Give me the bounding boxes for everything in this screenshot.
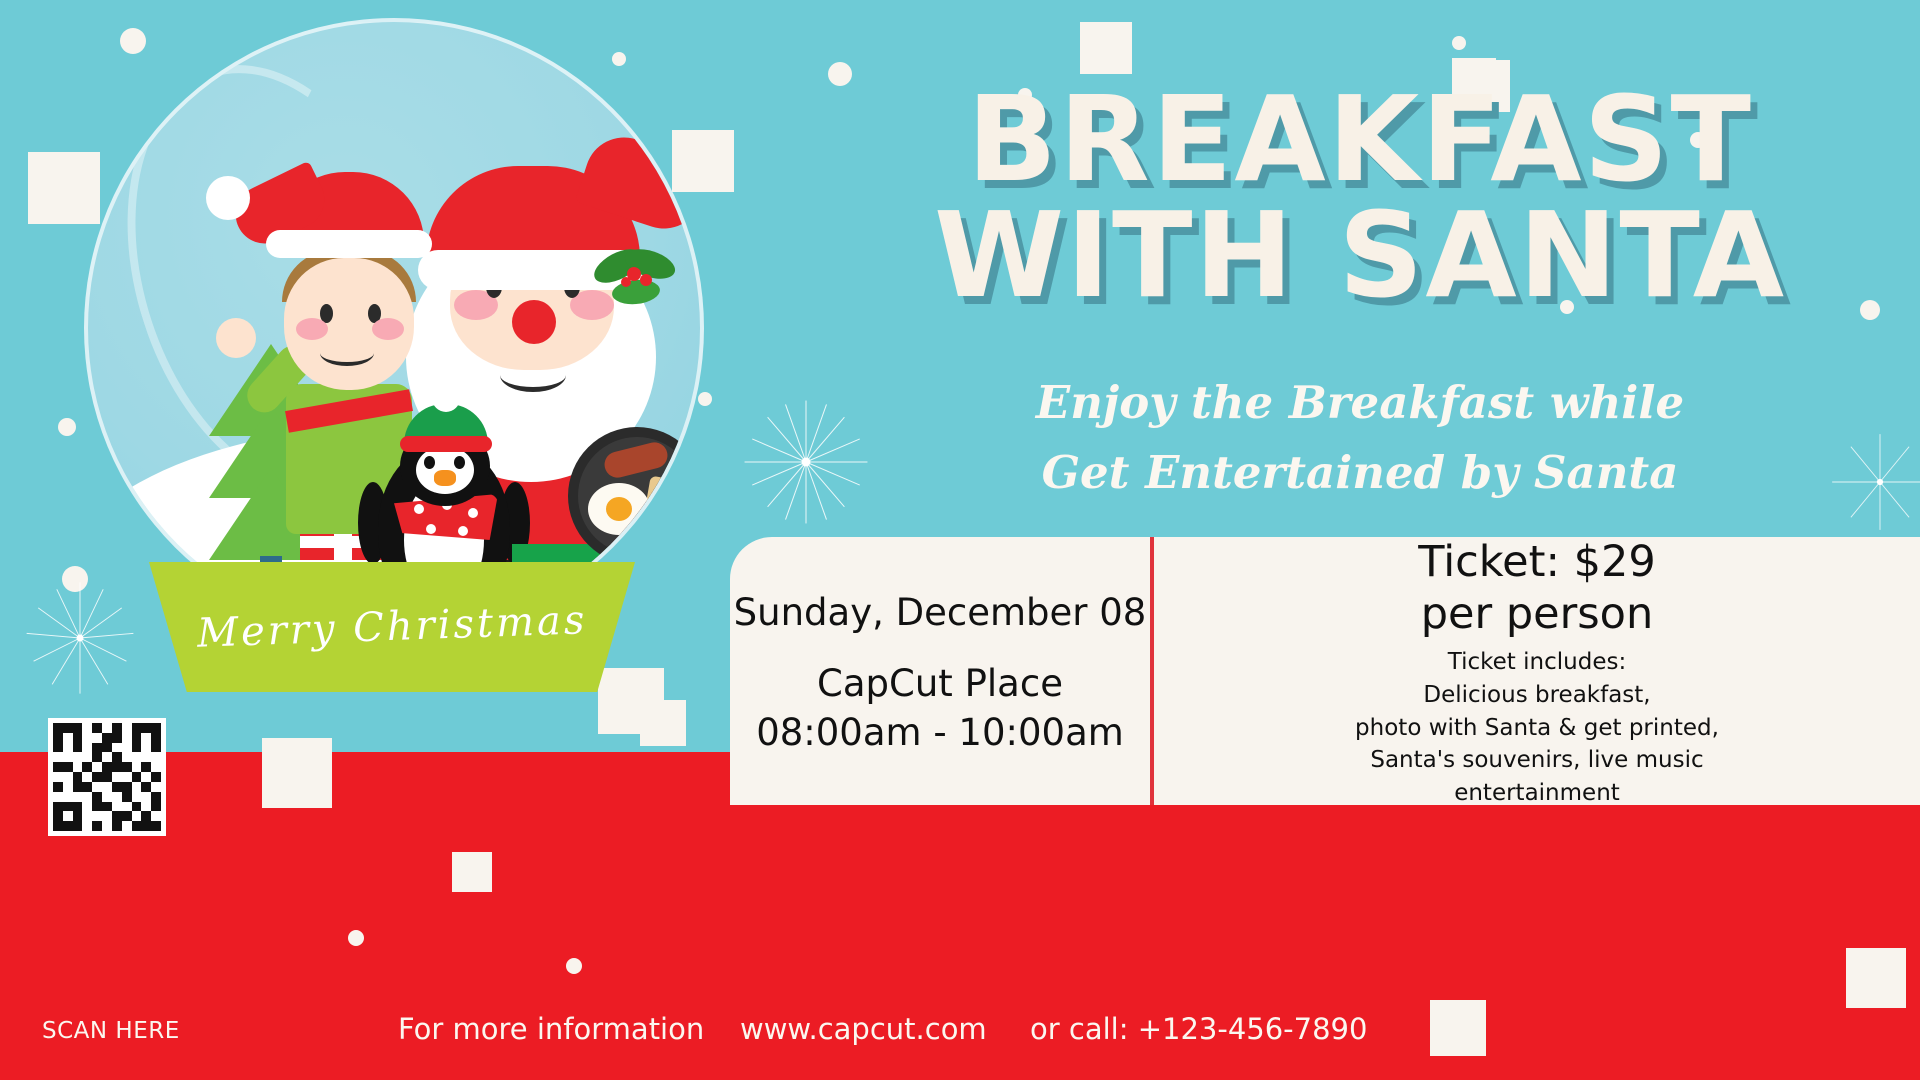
headline-line-2: WITH SANTA — [840, 198, 1880, 314]
ticket-includes-line: photo with Santa & get printed, — [1355, 712, 1719, 745]
qr-code-grid — [53, 723, 161, 831]
decor-dot — [1452, 36, 1466, 50]
globe-sphere — [84, 18, 704, 638]
event-date: Sunday, December 08 — [734, 591, 1147, 634]
subheadline-line-1: Enjoy the Breakfast while — [840, 368, 1880, 438]
ticket-includes-block: Ticket includes: Delicious breakfast, ph… — [1154, 640, 1920, 805]
subheadline: Enjoy the Breakfast while Get Entertaine… — [840, 368, 1880, 508]
elf-hand — [216, 318, 256, 358]
more-information-label: For more information — [398, 1012, 704, 1046]
decor-dot — [566, 958, 582, 974]
sparkle-icon — [1080, 22, 1132, 74]
holly-icon — [588, 240, 684, 320]
headline: BREAKFAST WITH SANTA — [840, 82, 1880, 313]
sparkle-icon — [452, 852, 492, 892]
elf-hat-brim — [266, 230, 432, 258]
elf-smile — [320, 340, 374, 366]
penguin-hat-pompom — [432, 384, 460, 412]
penguin-beak — [434, 470, 456, 486]
snow-globe-illustration: Merry Christmas — [62, 10, 722, 770]
santa-nose — [512, 300, 556, 344]
sparkle-icon — [1430, 1000, 1486, 1056]
headline-line-1: BREAKFAST — [840, 82, 1880, 198]
event-time: 08:00am - 10:00am — [756, 709, 1124, 757]
sparkle-icon — [1846, 948, 1906, 1008]
globe-base-text: Merry Christmas — [196, 597, 588, 657]
event-venue: CapCut Place — [817, 660, 1063, 708]
breakfast-plate-icon — [568, 427, 704, 567]
ticket-includes-line: Santa's souvenirs, live music — [1370, 744, 1703, 777]
event-info-card: Sunday, December 08 CapCut Place 08:00am… — [730, 537, 1920, 805]
poster-canvas: ❄ ❄ ❄ — [0, 0, 1920, 1080]
website-link[interactable]: www.capcut.com — [740, 1012, 987, 1046]
globe-base: Merry Christmas — [122, 562, 662, 692]
scan-here-label: SCAN HERE — [42, 1018, 180, 1044]
event-details-panel: Sunday, December 08 CapCut Place 08:00am… — [730, 537, 1150, 805]
qr-code[interactable] — [48, 718, 166, 836]
ticket-includes-line: entertainment — [1454, 777, 1620, 805]
ticket-price-unit: per person — [1421, 589, 1654, 641]
decor-dot — [348, 930, 364, 946]
ticket-panel: Ticket: $29 per person Ticket includes: … — [1154, 537, 1920, 805]
ticket-includes-line: Delicious breakfast, — [1423, 679, 1650, 712]
santa-mouth — [500, 358, 566, 392]
phone-number[interactable]: or call: +123-456-7890 — [1030, 1012, 1367, 1046]
penguin-hat-band — [400, 436, 492, 452]
ticket-price-block: Ticket: $29 per person — [1154, 537, 1920, 640]
subheadline-line-2: Get Entertained by Santa — [840, 438, 1880, 508]
elf-hat-pompom — [206, 176, 250, 220]
ticket-price: Ticket: $29 — [1418, 537, 1655, 589]
ticket-includes-line: Ticket includes: — [1448, 646, 1626, 679]
